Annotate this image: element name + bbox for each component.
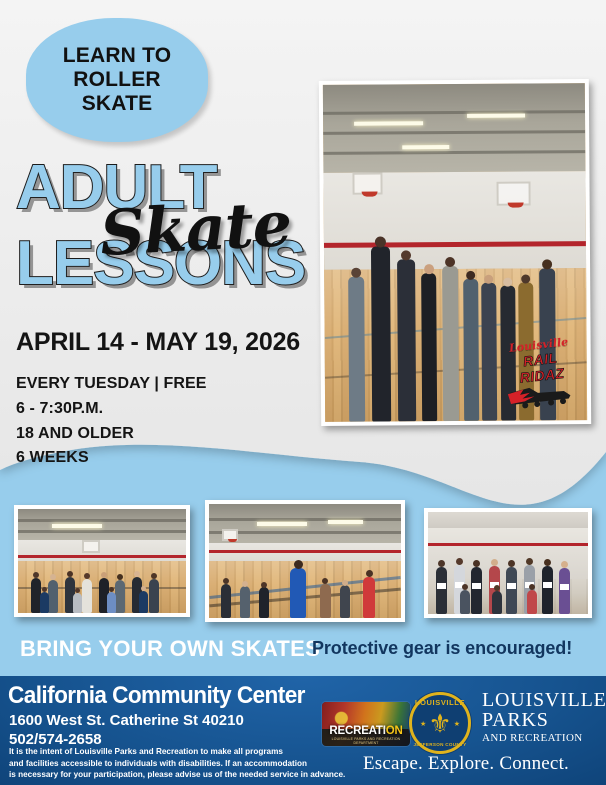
badge-line-2: ROLLER [63, 68, 172, 92]
photo-thumb-group [14, 505, 190, 617]
tagline-band: BRING YOUR OWN SKATES Protective gear is… [0, 636, 606, 672]
rail-ridaz-logo: Louisville RAIL RIDAZ [498, 334, 583, 395]
seal-top-text: LOUISVILLE [412, 698, 468, 707]
recreation-word-a: RECREATI [329, 725, 385, 737]
learn-to-roller-skate-badge: LEARN TO ROLLER SKATE [26, 18, 208, 142]
detail-item-time: 6 - 7:30P.M. [16, 397, 207, 422]
gym-scene-thumb-3 [428, 512, 588, 614]
basketball-backboard-right [496, 181, 530, 205]
community-center-contact: 1600 West St. Catherine St 40210 502/574… [9, 712, 244, 750]
bring-your-own-skates-text: BRING YOUR OWN SKATES [20, 636, 320, 662]
badge-text: LEARN TO ROLLER SKATE [63, 44, 172, 116]
recreation-logo-subtitle: LOUISVILLE PARKS AND RECREATION DEPARTME… [322, 737, 410, 745]
basketball-backboard-left [352, 172, 382, 194]
headline-script-skate: Skate [98, 187, 293, 270]
legal-line-1: It is the intent of Louisville Parks and… [9, 746, 345, 758]
recreation-logo-wordmark: RECREATION [322, 725, 410, 737]
legal-line-3: is necessary for your participation, ple… [9, 769, 345, 781]
flyer-canvas: LEARN TO ROLLER SKATE ADULT LESSONS Skat… [0, 0, 606, 785]
badge-line-3: SKATE [63, 92, 172, 116]
seal-star-right: ★ [454, 720, 460, 728]
seal-bottom-text: JEFFERSON COUNTY [412, 742, 468, 747]
gym-scene-thumb-1 [18, 509, 186, 613]
wordmark-line-2: PARKS [482, 710, 602, 730]
recreation-logo: RECREATION LOUISVILLE PARKS AND RECREATI… [322, 702, 410, 746]
date-range-text: APRIL 14 - MAY 19, 2026 [16, 328, 300, 357]
photo-main-skate-class: Louisville RAIL RIDAZ [319, 79, 591, 426]
gym-scene-thumb-2 [209, 504, 401, 618]
address-line: 1600 West St. Catherine St 40210 [9, 712, 244, 731]
gym-ceiling [323, 83, 586, 172]
gym-scene-main: Louisville RAIL RIDAZ [323, 83, 587, 422]
detail-item-duration: 6 WEEKS [16, 446, 207, 471]
fleur-de-lis-icon: ⚜ [428, 711, 451, 737]
wordmark-line-1: LOUISVILLE [482, 690, 602, 710]
detail-item-schedule: EVERY TUESDAY | FREE [16, 372, 207, 397]
louisville-jefferson-county-seal-icon: LOUISVILLE ★ ★ ⚜ JEFFERSON COUNTY [409, 692, 471, 754]
details-list: EVERY TUESDAY | FREE 6 - 7:30P.M. 18 AND… [16, 372, 207, 471]
photo-thumb-certificates [424, 508, 592, 618]
badge-line-1: LEARN TO [63, 44, 172, 68]
seal-star-left: ★ [420, 720, 426, 728]
headline-block: ADULT LESSONS Skate [12, 152, 332, 300]
protective-gear-text: Protective gear is encouraged! [312, 638, 572, 659]
slogan-text: Escape. Explore. Connect. [330, 753, 602, 775]
recreation-word-b: ON [386, 725, 403, 737]
detail-item-age: 18 AND OLDER [16, 422, 207, 447]
ada-legal-notice: It is the intent of Louisville Parks and… [9, 746, 345, 781]
wordmark-line-3: AND RECREATION [482, 732, 602, 744]
legal-line-2: and facilities accessible to individuals… [9, 758, 345, 770]
louisville-parks-wordmark: LOUISVILLE PARKS AND RECREATION [482, 690, 602, 744]
photo-thumb-skating [205, 500, 405, 622]
community-center-name: California Community Center [8, 682, 305, 710]
